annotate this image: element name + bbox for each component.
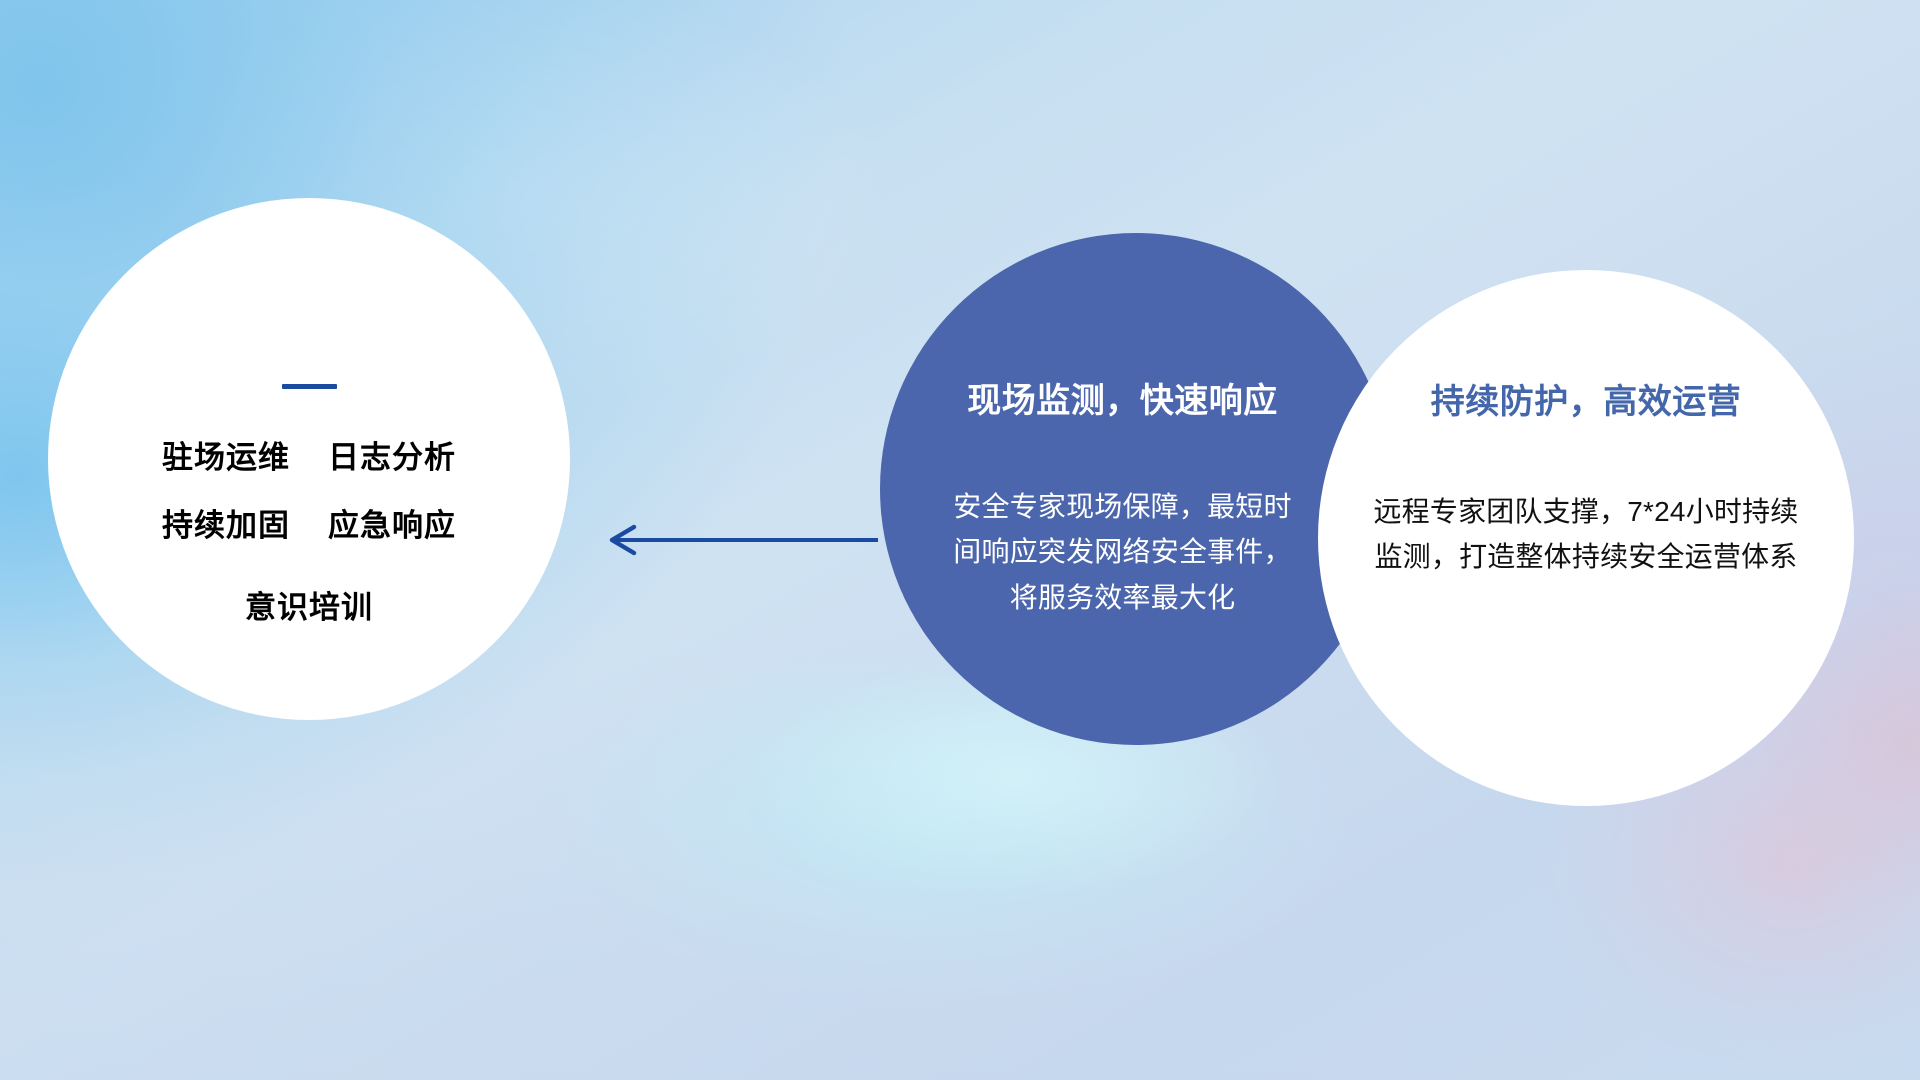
divider-dash-icon [282, 384, 337, 389]
capability-row-2: 持续加固 应急响应 [162, 509, 456, 543]
capability-circle-content: 驻场运维 日志分析 持续加固 应急响应 意识培训 [48, 198, 570, 720]
arrow-left-icon [600, 516, 880, 564]
onsite-monitoring-body: 安全专家现场保障，最短时间响应突发网络安全事件，将服务效率最大化 [948, 484, 1298, 620]
capability-keyword: 持续加固 [162, 509, 290, 543]
leftward-flow-arrow [600, 516, 880, 564]
capability-keyword: 应急响应 [328, 509, 456, 543]
continuous-protection-body: 远程专家团队支撑，7*24小时持续监测，打造整体持续安全运营体系 [1371, 489, 1801, 580]
onsite-monitoring-title: 现场监测，快速响应 [967, 381, 1278, 422]
capability-keyword: 日志分析 [328, 441, 456, 475]
capability-row-1: 驻场运维 日志分析 [162, 441, 456, 475]
capability-keyword: 驻场运维 [162, 441, 290, 475]
capability-keyword: 意识培训 [245, 591, 373, 625]
slide-canvas: 驻场运维 日志分析 持续加固 应急响应 意识培训 现场监测，快速响应 安全专家现… [0, 0, 1920, 1080]
onsite-monitoring-circle-content: 现场监测，快速响应 安全专家现场保障，最短时间响应突发网络安全事件，将服务效率最… [910, 233, 1335, 745]
capability-row-3: 意识培训 [245, 591, 373, 625]
continuous-protection-title: 持续防护，高效运营 [1431, 382, 1742, 423]
continuous-protection-circle-content: 持续防护，高效运营 远程专家团队支撑，7*24小时持续监测，打造整体持续安全运营… [1360, 270, 1812, 806]
